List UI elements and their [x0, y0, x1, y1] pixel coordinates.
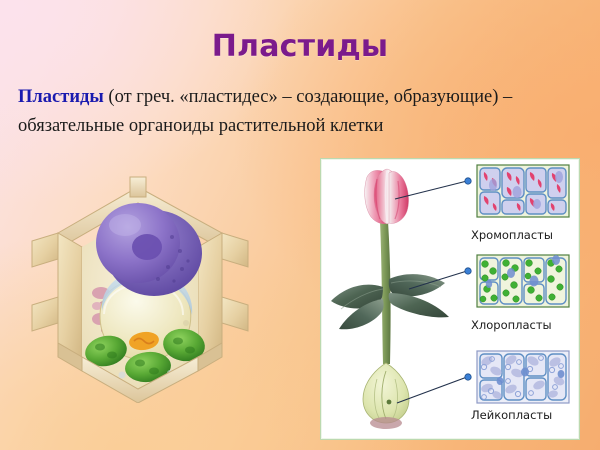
label-leucoplasts: Лейкопласты	[471, 408, 552, 422]
plant-cell-illustration	[22, 175, 254, 403]
slide-canvas: Пластиды Пластиды (от греч. «пластидес» …	[0, 0, 600, 450]
plastid-diagram-panel: Хромопласты Хлоропласты Лейкопласты	[320, 158, 580, 440]
micrograph-chromoplasts	[477, 165, 569, 217]
page-title: Пластиды	[0, 29, 600, 64]
definition-paragraph: Пластиды (от греч. «пластидес» – создающ…	[18, 83, 578, 141]
definition-lead-term: Пластиды	[18, 87, 104, 107]
label-chromoplasts: Хромопласты	[471, 228, 553, 242]
pointer-dots	[465, 178, 471, 380]
label-chloroplasts: Хлоропласты	[471, 318, 552, 332]
micrograph-chloroplasts	[477, 255, 569, 307]
bulb-plastid-marker	[387, 400, 392, 405]
micrograph-leucoplasts	[477, 351, 569, 403]
leaf-right	[389, 293, 449, 317]
tulip-flower	[365, 169, 409, 224]
nucleolus	[132, 234, 162, 260]
tulip-bulb	[363, 363, 409, 429]
